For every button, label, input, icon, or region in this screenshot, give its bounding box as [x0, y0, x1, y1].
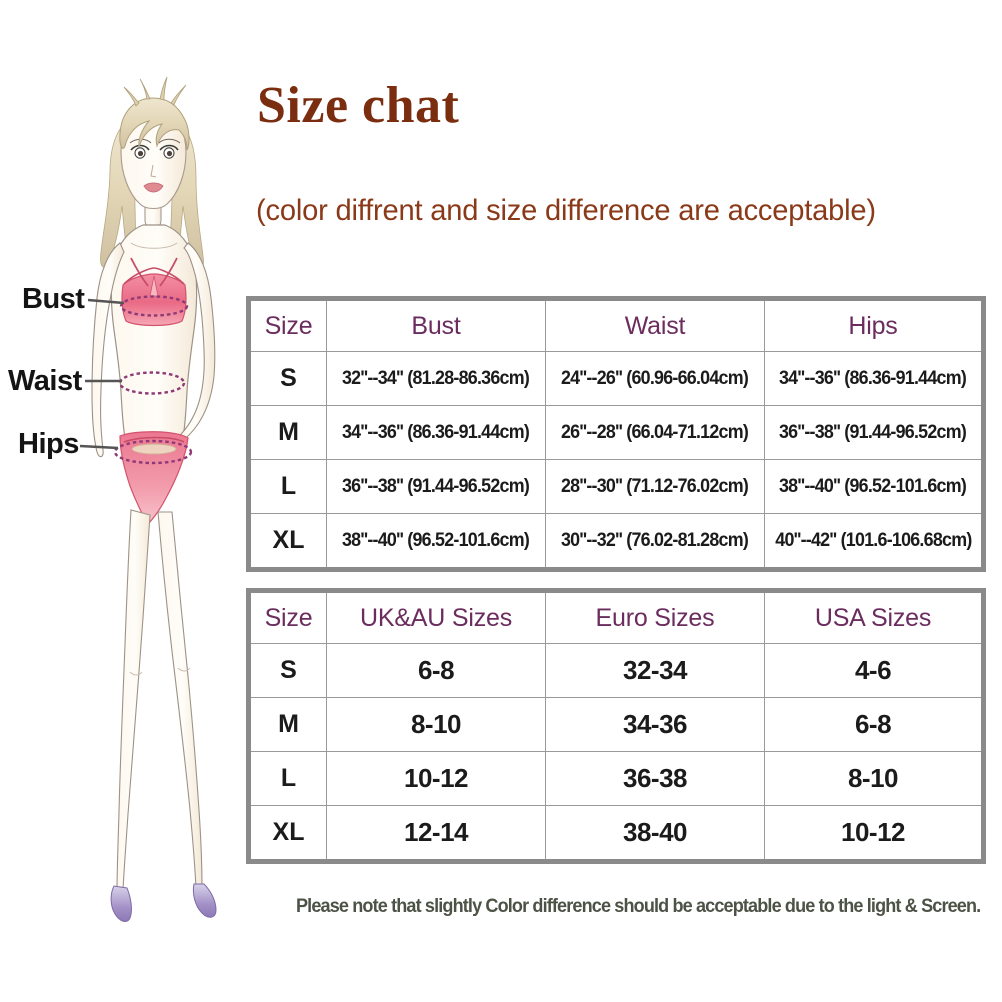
cell-uk-au: 12-14 — [327, 806, 546, 862]
cell-size: M — [249, 406, 327, 460]
column-header-waist: Waist — [546, 299, 765, 352]
table-row: XL 12-14 38-40 10-12 — [249, 806, 984, 862]
cell-hips: 38''--40'' (96.52-101.6cm) — [765, 460, 984, 514]
swimsuit-bottom — [120, 432, 188, 524]
table-row: L 10-12 36-38 8-10 — [249, 752, 984, 806]
cell-waist: 30''--32'' (76.02-81.28cm) — [546, 514, 765, 570]
table-row: XL 38''--40'' (96.52-101.6cm) 30''--32''… — [249, 514, 984, 570]
cell-hips: 36''--38'' (91.44-96.52cm) — [765, 406, 984, 460]
cell-euro: 34-36 — [546, 698, 765, 752]
cell-usa: 8-10 — [765, 752, 984, 806]
cell-waist: 26''--28'' (66.04-71.12cm) — [546, 406, 765, 460]
column-header-euro: Euro Sizes — [546, 591, 765, 644]
table-row: L 36''--38'' (91.44-96.52cm) 28''--30'' … — [249, 460, 984, 514]
cell-bust: 38''--40'' (96.52-101.6cm) — [327, 514, 546, 570]
table-row: S 32''--34'' (81.28-86.36cm) 24''--26'' … — [249, 352, 984, 406]
cell-waist: 24''--26'' (60.96-66.04cm) — [546, 352, 765, 406]
torso — [111, 225, 196, 444]
chart-content: Size chat (color diffrent and size diffe… — [252, 0, 1002, 1002]
shoe-right — [193, 884, 216, 917]
cell-size: S — [249, 352, 327, 406]
cell-size: XL — [249, 806, 327, 862]
cell-hips: 40''--42'' (101.6-106.68cm) — [765, 514, 984, 570]
cell-euro: 36-38 — [546, 752, 765, 806]
column-header-size: Size — [249, 299, 327, 352]
cell-bust: 32''--34'' (81.28-86.36cm) — [327, 352, 546, 406]
table-header-row: Size Bust Waist Hips — [249, 299, 984, 352]
cell-euro: 38-40 — [546, 806, 765, 862]
cell-usa: 10-12 — [765, 806, 984, 862]
cell-bust: 36''--38'' (91.44-96.52cm) — [327, 460, 546, 514]
column-header-size: Size — [249, 591, 327, 644]
shoe-left — [111, 886, 131, 921]
leg-right — [158, 512, 202, 893]
cell-size: L — [249, 460, 327, 514]
cell-usa: 6-8 — [765, 698, 984, 752]
table-row: S 6-8 32-34 4-6 — [249, 644, 984, 698]
waist-label: Waist — [8, 365, 82, 398]
cell-waist: 28''--30'' (71.12-76.02cm) — [546, 460, 765, 514]
bust-label: Bust — [22, 283, 84, 316]
cell-usa: 4-6 — [765, 644, 984, 698]
conversions-table: Size UK&AU Sizes Euro Sizes USA Sizes S … — [246, 588, 986, 864]
cell-size: M — [249, 698, 327, 752]
cell-size: S — [249, 644, 327, 698]
cell-euro: 32-34 — [546, 644, 765, 698]
cell-size: L — [249, 752, 327, 806]
female-body-measurement-diagram: Bust Waist Hips — [0, 0, 252, 1002]
color-difference-note: Please note that slightly Color differen… — [296, 896, 980, 918]
cell-bust: 34''--36'' (86.36-91.44cm) — [327, 406, 546, 460]
cell-uk-au: 6-8 — [327, 644, 546, 698]
cell-size: XL — [249, 514, 327, 570]
cell-hips: 34''--36'' (86.36-91.44cm) — [765, 352, 984, 406]
table-header-row: Size UK&AU Sizes Euro Sizes USA Sizes — [249, 591, 984, 644]
table-row: M 8-10 34-36 6-8 — [249, 698, 984, 752]
column-header-hips: Hips — [765, 299, 984, 352]
column-header-usa: USA Sizes — [765, 591, 984, 644]
size-chart-page: Bust Waist Hips Size chat (color diffren… — [0, 0, 1002, 1002]
table-row: M 34''--36'' (86.36-91.44cm) 26''--28'' … — [249, 406, 984, 460]
page-subtitle: (color diffrent and size difference are … — [256, 194, 876, 228]
leg-left — [117, 510, 150, 895]
column-header-uk-au: UK&AU Sizes — [327, 591, 546, 644]
hips-label: Hips — [18, 428, 79, 461]
measurements-table: Size Bust Waist Hips S 32''--34'' (81.28… — [246, 296, 986, 572]
column-header-bust: Bust — [327, 299, 546, 352]
hips-leader-line — [80, 446, 118, 448]
cell-uk-au: 10-12 — [327, 752, 546, 806]
page-title: Size chat — [257, 80, 459, 132]
cell-uk-au: 8-10 — [327, 698, 546, 752]
